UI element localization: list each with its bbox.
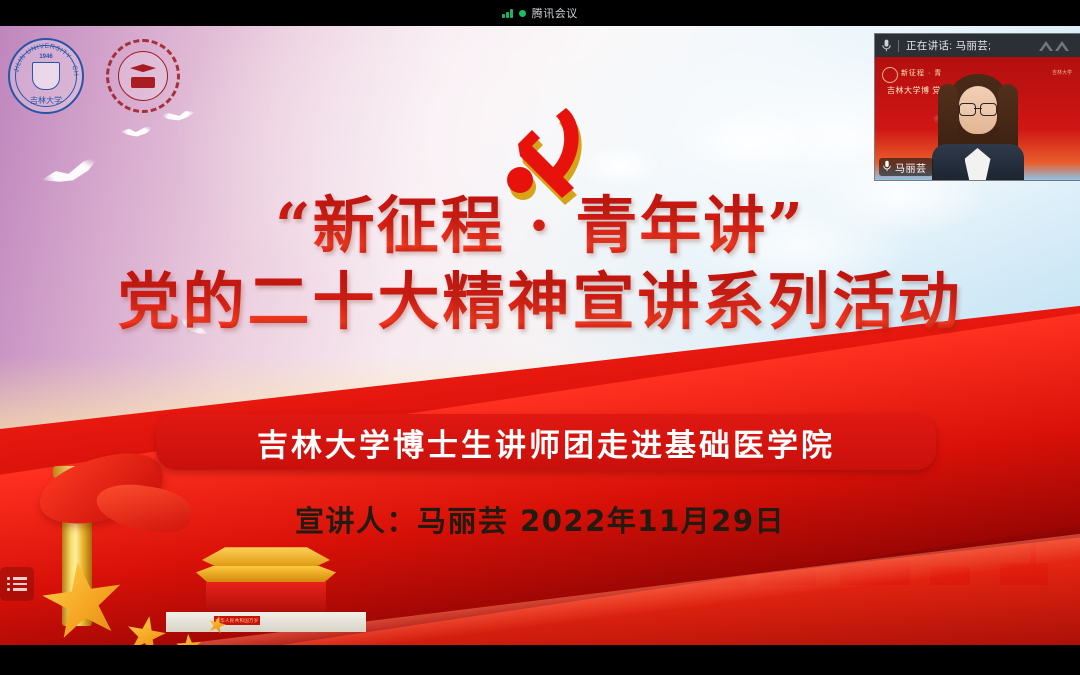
screen: 腾讯会议 (0, 0, 1080, 675)
bottom-letterbox (0, 645, 1080, 675)
video-feed: 新征程 · 青 吉林大学 吉林大学博 党的二十大精神 腾讯会议 马丽芸 (875, 57, 1080, 180)
virtual-bg-corner: 吉林大学 (1052, 69, 1072, 76)
slide-title-line1: “新征程 · 青年讲” (0, 192, 1080, 260)
app-name-label: 腾讯会议 (532, 5, 578, 21)
logo-cn-text: 吉林大学 (30, 95, 62, 106)
doctoral-lecturer-group-logo (106, 39, 180, 113)
slide-list-toggle[interactable] (0, 567, 34, 601)
signal-bars-icon (502, 8, 513, 18)
logo-group: 1946 JILIN UNIVERSITY · CHINA 吉林大学 (8, 38, 180, 114)
video-panel-header: 正在讲话: 马丽芸; (875, 34, 1080, 57)
speaking-status-label: 正在讲话: 马丽芸; (906, 38, 991, 53)
system-top-bar: 腾讯会议 (0, 0, 1080, 26)
jilin-university-logo: 1946 JILIN UNIVERSITY · CHINA 吉林大学 (8, 38, 84, 114)
dove-icon (38, 153, 103, 193)
participant-video-image (930, 70, 1026, 180)
title-block: “新征程 · 青年讲” 党的二十大精神宣讲系列活动 (0, 192, 1080, 336)
svg-text:JILIN UNIVERSITY · CHINA: JILIN UNIVERSITY · CHINA (10, 40, 79, 77)
virtual-bg-seal-icon (882, 67, 898, 83)
microphone-icon (883, 160, 891, 175)
tencent-meeting-logo (1038, 38, 1072, 58)
list-icon (7, 574, 27, 594)
presenter-line: 宣讲人：马丽芸 2022年11月29日 (0, 498, 1080, 540)
header-divider (898, 40, 899, 52)
recording-status-dot (519, 10, 526, 17)
subtitle-banner-text: 吉林大学博士生讲师团走进基础医学院 (257, 420, 835, 465)
glasses-icon (959, 103, 997, 115)
video-picture-in-picture[interactable]: 正在讲话: 马丽芸; 新征程 · 青 吉林大学 吉林大学博 党的二十大精神 腾讯… (875, 34, 1080, 180)
slide-title-line2: 党的二十大精神宣讲系列活动 (0, 268, 1080, 336)
subtitle-banner: 吉林大学博士生讲师团走进基础医学院 (156, 414, 936, 470)
tiananmen-gate-illustration: 中华人民共和国万岁 (196, 542, 336, 632)
participant-name-label: 马丽芸 (895, 160, 927, 175)
participant-name-badge: 马丽芸 (879, 158, 933, 176)
microphone-icon (882, 39, 891, 52)
